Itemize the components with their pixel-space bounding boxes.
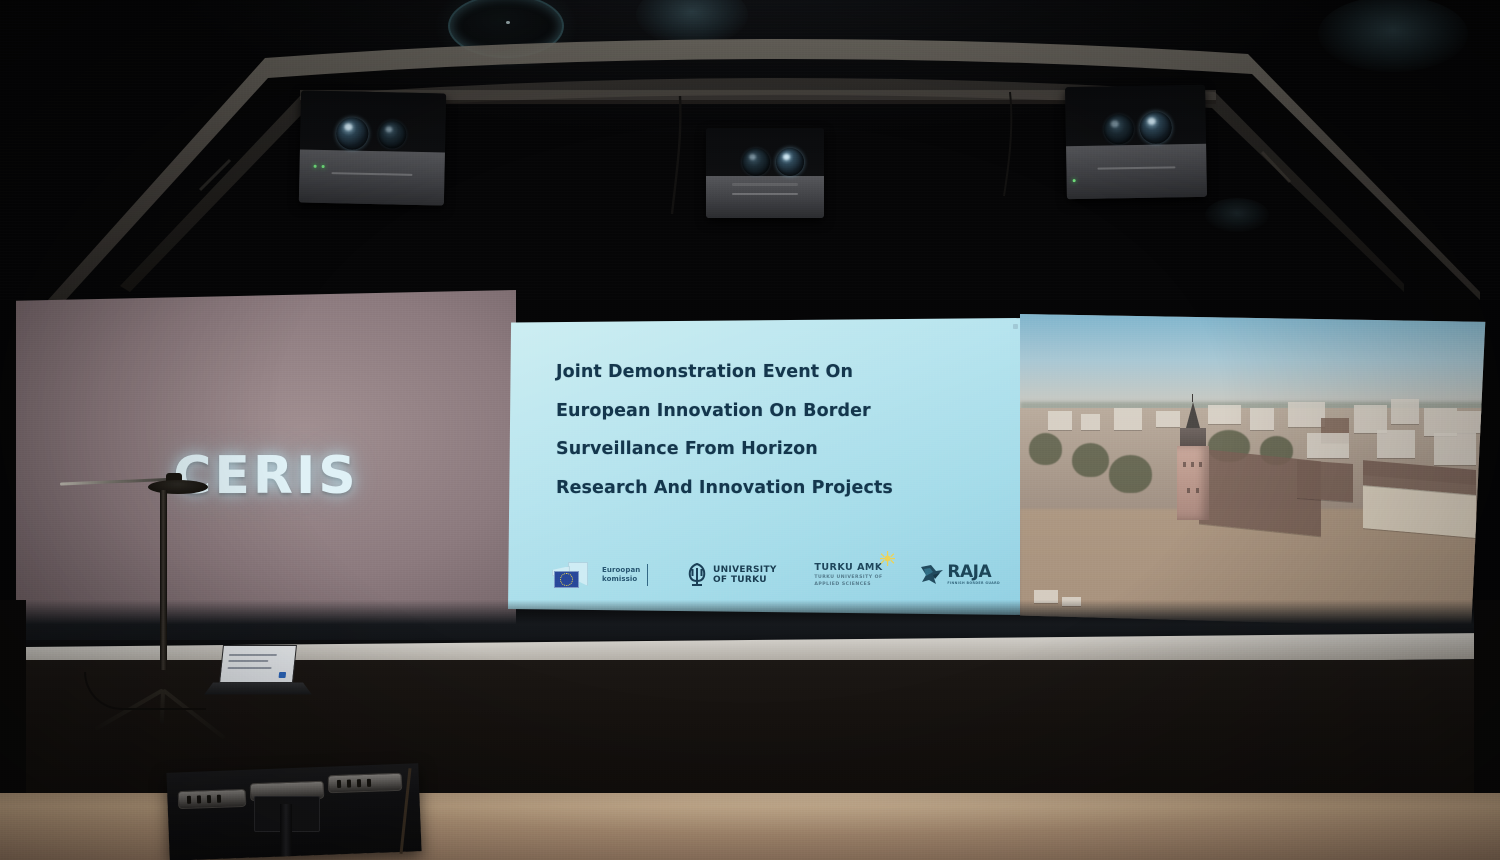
- stage-right-shadow: [1474, 600, 1500, 815]
- slide-title-line-1: Joint Demonstration Event On: [556, 364, 994, 382]
- laptop-screen[interactable]: [219, 645, 297, 683]
- projector-left: [299, 90, 446, 205]
- ut-line-2: OF TURKU: [713, 575, 777, 585]
- projector-right-top: [1065, 85, 1206, 147]
- projector-right-led: [1073, 179, 1076, 182]
- projector-left-body: [299, 90, 446, 205]
- monitor-stand-neck: [280, 804, 292, 856]
- mic-pole: [160, 490, 167, 670]
- turku-amk-sub-line-1: TURKU UNIVERSITY OF: [814, 575, 882, 582]
- slide-corner-marker: [1013, 324, 1018, 329]
- eu-emblem-icon: [552, 562, 598, 588]
- ut-line-1: UNIVERSITY: [713, 565, 777, 575]
- projector-right-body: [1065, 85, 1207, 199]
- slide-title-block: Joint Demonstration Event On European In…: [556, 364, 994, 518]
- slide-title-line-4: Research And Innovation Projects: [556, 480, 994, 498]
- center-presentation-slide: Joint Demonstration Event On European In…: [508, 318, 1024, 618]
- slide-title-line-2: European Innovation On Border: [556, 403, 994, 421]
- raja-finnish-border-guard-logo: RAJA FINNISH BORDER GUARD: [920, 563, 1000, 587]
- turku-aerial-photo: [1020, 314, 1490, 628]
- projector-left-vent: [331, 173, 412, 177]
- slide-logo-row: Euroopan komissio: [552, 554, 1000, 596]
- projector-center-bottom: [706, 176, 824, 218]
- mic-boom-clamp: [148, 480, 208, 494]
- stage-left-shadow: [0, 600, 26, 815]
- university-of-turku-logo: UNIVERSITY OF TURKU: [686, 563, 777, 587]
- eu-logo-line-1: Euroopan: [602, 566, 640, 575]
- turku-cathedral-tower: [1175, 402, 1211, 520]
- projector-center: [706, 128, 824, 218]
- raja-eagle-icon: [920, 563, 946, 587]
- eu-stars-icon: [560, 573, 573, 586]
- eu-logo-text: Euroopan komissio: [602, 566, 640, 584]
- turku-amk-text-block: TURKU AMK TURKU UNIVERSITY OF APPLIED SC…: [814, 562, 882, 588]
- ceiling-light-4: [1205, 198, 1269, 232]
- projector-left-top: [300, 90, 446, 152]
- turku-amk-name: TURKU AMK: [814, 562, 882, 573]
- right-projection-panel: [1020, 314, 1490, 628]
- auditorium-photo: CERIS Joint Demonstration Event On Europ…: [0, 0, 1500, 860]
- projector-left-bottom: [299, 150, 445, 206]
- laptop-keyboard-base[interactable]: [204, 683, 312, 695]
- eu-flag-icon: [554, 571, 579, 588]
- projector-center-lens-2: [776, 148, 804, 176]
- university-of-turku-text: UNIVERSITY OF TURKU: [713, 565, 777, 586]
- presenter-laptop[interactable]: [203, 645, 309, 707]
- ceiling-light-1-bulb: [506, 21, 510, 24]
- projector-left-led-2: [322, 165, 325, 168]
- projector-right-vent: [1097, 167, 1175, 170]
- monitor-vent-right: [328, 773, 403, 794]
- projector-center-brand: [732, 183, 798, 186]
- monitor-vent-left: [178, 789, 247, 809]
- raja-subtitle: FINNISH BORDER GUARD: [947, 581, 1000, 585]
- slide-title-line-3: Surveillance From Horizon: [556, 441, 994, 459]
- raja-name: RAJA: [947, 565, 1000, 580]
- projector-right: [1065, 85, 1207, 199]
- european-commission-logo: Euroopan komissio: [552, 562, 648, 588]
- raja-text-block: RAJA FINNISH BORDER GUARD: [947, 565, 1000, 584]
- turku-amk-subtitle: TURKU UNIVERSITY OF APPLIED SCIENCES: [814, 575, 882, 588]
- projector-center-body: [706, 128, 824, 218]
- turku-amk-star-icon: [880, 551, 895, 566]
- turku-trident-icon: [686, 563, 708, 587]
- projector-left-led-1: [314, 165, 317, 168]
- turku-amk-sub-line-2: APPLIED SCIENCES: [814, 582, 882, 589]
- floor-confidence-monitor: [168, 768, 420, 856]
- eu-logo-divider: [647, 564, 648, 586]
- ceiling-light-1: [448, 0, 564, 58]
- turku-amk-logo: TURKU AMK TURKU UNIVERSITY OF APPLIED SC…: [814, 562, 882, 588]
- projector-center-vent: [732, 193, 798, 195]
- mic-cable: [84, 672, 206, 710]
- projector-right-bottom: [1066, 144, 1207, 199]
- projector-center-lens-1: [742, 148, 770, 176]
- eu-logo-line-2: komissio: [602, 575, 640, 584]
